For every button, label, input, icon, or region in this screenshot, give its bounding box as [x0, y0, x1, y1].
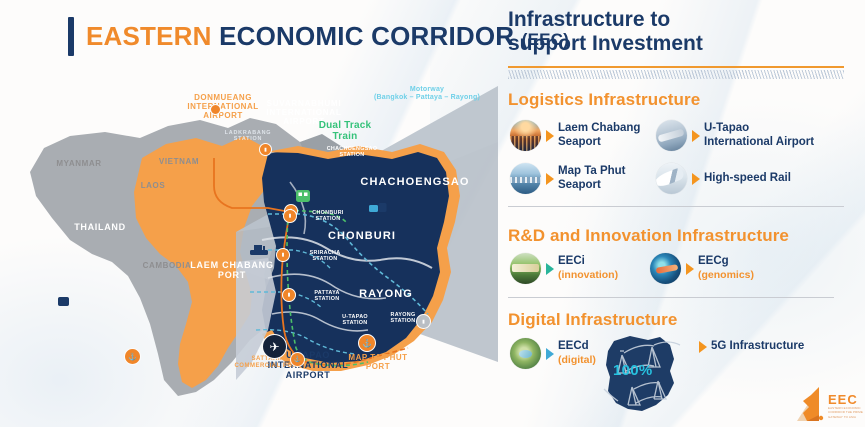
train-icon — [296, 190, 310, 202]
page-title: EASTERN ECONOMIC CORRIDOR (EEC) — [68, 17, 569, 56]
high-speed-rail-thumbnail — [656, 163, 687, 194]
laem-chabang-seaport-thumbnail — [510, 120, 541, 151]
title-word-eastern: EASTERN — [86, 21, 212, 51]
item-label-line2: International Airport — [704, 136, 814, 150]
title-accent-bar — [68, 17, 74, 56]
item-label: EECg — [698, 255, 754, 269]
item-sublabel: (innovation) — [558, 269, 618, 282]
section-heading-rnd: R&D and Innovation Infrastructure — [508, 226, 789, 246]
item-sublabel: (digital) — [558, 354, 596, 367]
item-label-line2: Seaport — [558, 179, 626, 193]
port-pin-map-ta-phut: ⚓ — [358, 334, 376, 352]
item-label-line2: Seaport — [558, 136, 640, 150]
eec-logo-subtext: EASTERN ECONOMIC CORRIDOR THE PRIME GATE… — [828, 406, 864, 419]
item-label: 5G Infrastructure — [711, 340, 804, 354]
item-label: EECi — [558, 255, 618, 269]
infographic-slide: EASTERN ECONOMIC CORRIDOR (EEC) — [0, 0, 865, 427]
item-eeci[interactable]: EECi (innovation) — [510, 253, 618, 284]
item-utapao-international-airport[interactable]: U-Tapao International Airport — [656, 120, 814, 151]
section-divider-2 — [508, 297, 834, 298]
eecd-thumbnail — [510, 338, 541, 369]
bullet-arrow-icon — [546, 130, 554, 142]
section-heading-logistics: Logistics Infrastructure — [508, 90, 700, 110]
title-word-economic-corridor: ECONOMIC CORRIDOR — [219, 21, 514, 51]
item-label: EECd — [558, 340, 596, 354]
item-high-speed-rail[interactable]: High-speed Rail — [656, 163, 791, 194]
item-eecg[interactable]: EECg (genomics) — [650, 253, 754, 284]
station-pin-utapao-port: ⚓ — [290, 352, 305, 367]
station-pin-chonburi: ▮ — [283, 209, 297, 223]
5g-coverage-percent: 100% — [613, 362, 653, 379]
eecg-thumbnail — [650, 253, 681, 284]
map-ta-phut-seaport-thumbnail — [510, 163, 541, 194]
item-label: High-speed Rail — [704, 172, 791, 186]
eec-map: MYANMAR LAOS VIETNAM THAILAND CAMBODIA C… — [0, 62, 498, 427]
station-pin-donmueang — [210, 104, 221, 115]
item-eecd[interactable]: EECd (digital) — [510, 338, 596, 369]
item-label: Map Ta Phut — [558, 165, 626, 179]
port-pin-sattahip: ⚓ — [124, 348, 141, 365]
panel-heading: Infrastructure to support Investment — [508, 8, 703, 57]
bullet-arrow-icon — [692, 173, 700, 185]
bullet-arrow-icon — [546, 263, 554, 275]
station-pin-pattaya: ▮ — [282, 288, 296, 302]
heading-orange-rule — [508, 66, 844, 68]
station-pin-ladkrabang: ▮ — [259, 143, 272, 156]
item-laem-chabang-seaport[interactable]: Laem Chabang Seaport — [510, 120, 640, 151]
heading-hatch-band — [508, 70, 844, 79]
bullet-arrow-icon — [692, 130, 700, 142]
bullet-arrow-icon — [699, 341, 707, 353]
item-label: U-Tapao — [704, 122, 814, 136]
map-graphic — [0, 62, 498, 427]
bullet-arrow-icon — [546, 348, 554, 360]
bangkok-marker — [58, 297, 69, 306]
eec-logo-text: EEC — [828, 392, 858, 407]
section-heading-digital: Digital Infrastructure — [508, 310, 677, 330]
station-pin-rayong: ▮ — [416, 314, 431, 329]
section-divider-1 — [508, 206, 844, 207]
bullet-arrow-icon — [686, 263, 694, 275]
eeci-thumbnail — [510, 253, 541, 284]
u-tapao-airport-thumbnail — [656, 120, 687, 151]
station-pin-sriracha: ▮ — [276, 248, 290, 262]
item-5g-infrastructure[interactable]: 5G Infrastructure — [698, 340, 804, 354]
item-label: Laem Chabang — [558, 122, 640, 136]
airport-pin-utapao: ✈ — [262, 334, 287, 359]
bullet-arrow-icon — [546, 173, 554, 185]
item-sublabel: (genomics) — [698, 269, 754, 282]
item-map-ta-phut-seaport[interactable]: Map Ta Phut Seaport — [510, 163, 626, 194]
